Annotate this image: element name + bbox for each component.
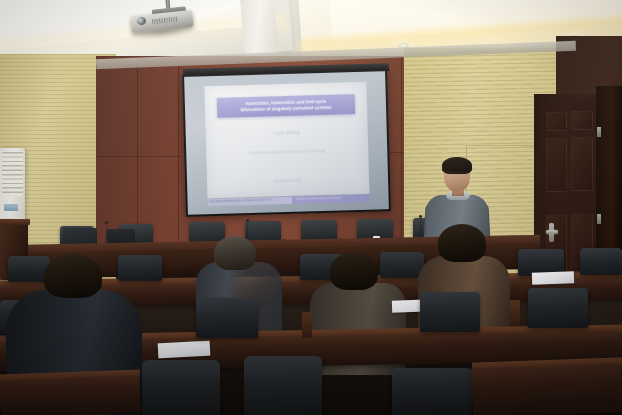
paper-document — [532, 271, 574, 284]
lecture-room-photo: Homoclinic, heteroclinic and limit cycle… — [0, 0, 622, 415]
door-hinge-icon — [597, 127, 601, 137]
slide-author: Lijun Zhang — [206, 128, 368, 138]
audience-chair[interactable] — [580, 248, 622, 275]
slide-footer-right-text: Singularly perturbed dynamical systems — [296, 196, 342, 200]
foreground-desk — [0, 376, 141, 415]
microphone-icon — [246, 219, 249, 222]
door-panel — [546, 138, 567, 192]
door-hinge-icon — [597, 214, 601, 224]
paper-document — [158, 341, 211, 359]
audience-chair[interactable] — [380, 252, 424, 278]
door-handle-icon[interactable] — [546, 230, 558, 234]
microphone-icon — [419, 215, 422, 218]
audience-member-hair — [44, 254, 102, 298]
audience-chair[interactable] — [196, 298, 258, 338]
door-panel — [546, 112, 567, 131]
projection-screen-surface: Homoclinic, heteroclinic and limit cycle… — [184, 71, 389, 215]
air-conditioner-vent — [2, 152, 23, 196]
microphone-icon — [105, 221, 108, 224]
slide-affiliation: Shandong University of Science and Techn… — [206, 148, 368, 157]
audience-member-hair — [438, 224, 486, 262]
audience-chair[interactable] — [528, 288, 588, 328]
eyeglasses-icon — [446, 172, 468, 178]
slide-footer-left-text: Lijun Zhang Shandong Univ. of Science an… — [210, 198, 273, 203]
door-panel — [571, 137, 593, 191]
audience-chair[interactable] — [142, 360, 220, 415]
slide-title-line-2: bifurcations of singularly perturbed sys… — [241, 105, 332, 114]
slide-title-box: Homoclinic, heteroclinic and limit cycle… — [217, 94, 356, 118]
lectern-top — [0, 219, 30, 225]
air-conditioner-display — [4, 204, 18, 211]
wall-panel-seam — [401, 56, 402, 256]
projection-screen: Homoclinic, heteroclinic and limit cycle… — [182, 69, 391, 217]
chair-arm — [510, 300, 520, 326]
audience-chair[interactable] — [392, 368, 472, 415]
slide-date: December 2015 — [207, 177, 369, 186]
door-panel — [571, 111, 593, 130]
foreground-desk-right — [471, 363, 622, 415]
audience-chair[interactable] — [118, 255, 162, 281]
wall-panel-seam — [96, 156, 181, 157]
audience-chair[interactable] — [420, 292, 480, 332]
audience-member-hair — [214, 236, 256, 270]
chair-arm — [302, 312, 312, 338]
audience-member-hair — [330, 252, 378, 290]
presentation-slide: Homoclinic, heteroclinic and limit cycle… — [204, 82, 369, 198]
audience-chair[interactable] — [244, 356, 322, 415]
